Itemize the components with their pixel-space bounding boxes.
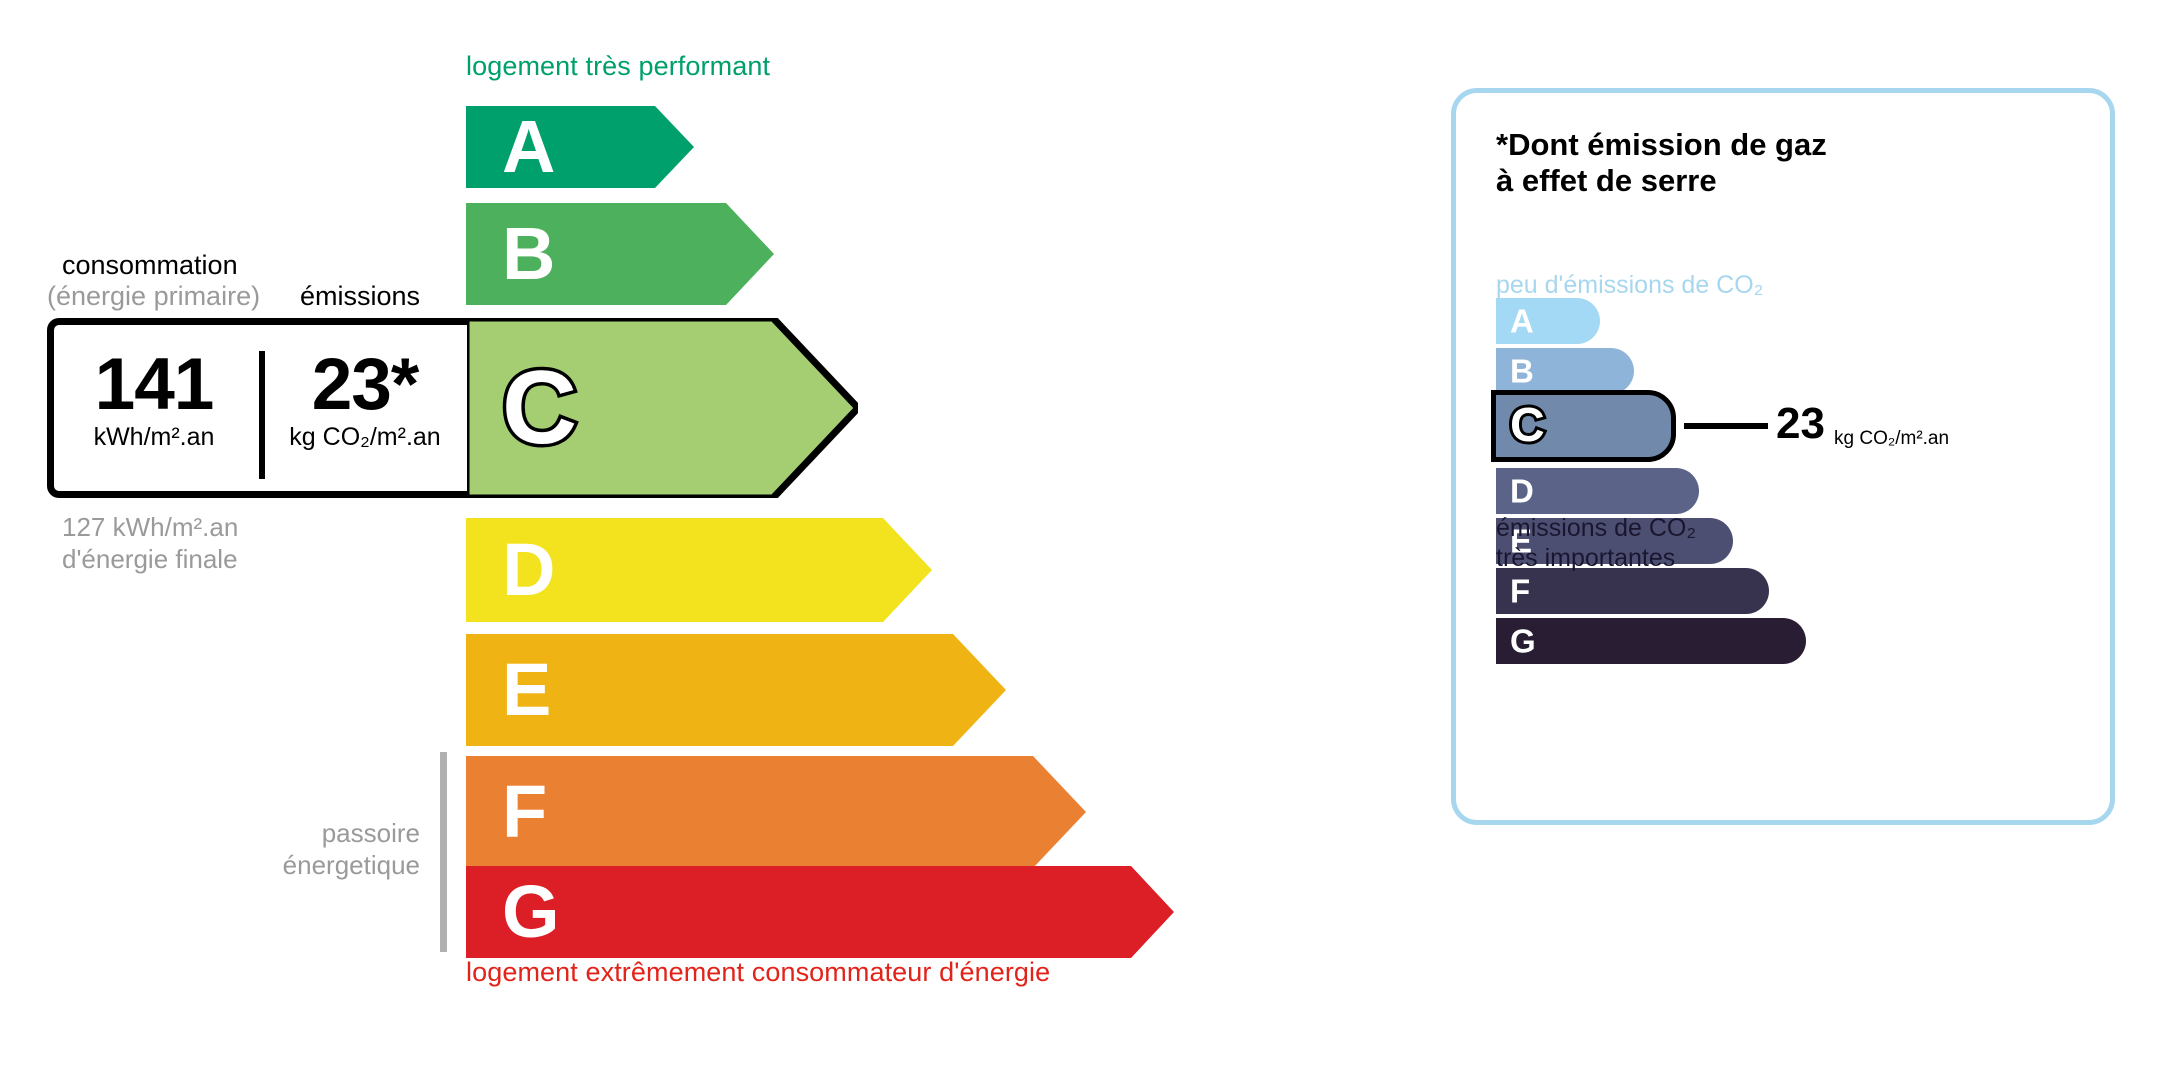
co2-bar-letter-a: A <box>1510 305 1534 338</box>
band-arrow-shape <box>466 866 1174 958</box>
co2-value: 23 <box>1776 402 1825 446</box>
final-energy-value: 127 kWh/m².an <box>62 512 238 544</box>
passoire-line2: énergetique <box>220 850 420 882</box>
chart-bottom-label: logement extrêmement consommateur d'éner… <box>466 957 1050 988</box>
band-arrow-shape <box>466 106 694 188</box>
band-letter-e: E <box>502 653 551 727</box>
energy-band-e: E <box>466 634 1006 746</box>
co2-leader-line <box>1684 423 1768 429</box>
co2-bottom-line2: très importantes <box>1496 543 1696 573</box>
band-letter-c: C <box>502 356 577 460</box>
band-letter-f: F <box>502 775 547 849</box>
co2-title-line1: *Dont émission de gaz <box>1496 127 1827 163</box>
value-box: 141 kWh/m².an 23* kg CO₂/m².an <box>47 318 467 498</box>
co2-bar-letter-d: D <box>1510 475 1534 508</box>
passoire-line1: passoire <box>220 818 420 850</box>
primary-energy-label: (énergie primaire) <box>47 281 260 311</box>
energy-band-a: A <box>466 106 694 188</box>
consumption-label: consommation <box>62 250 238 280</box>
co2-bar-c: C <box>1491 390 1676 462</box>
co2-panel: *Dont émission de gaz à effet de serre p… <box>1451 88 2115 825</box>
emissions-value: 23* <box>265 349 465 421</box>
energy-band-b: B <box>466 203 774 305</box>
co2-bar-letter-f: F <box>1510 575 1530 608</box>
co2-bottom-line1: émissions de CO₂ <box>1496 513 1696 543</box>
co2-bar-b: B <box>1496 348 1634 394</box>
emissions-unit: kg CO₂/m².an <box>265 425 465 450</box>
co2-bar-f: F <box>1496 568 1769 614</box>
consumption-value-cell: 141 kWh/m².an <box>54 349 254 450</box>
consumption-value: 141 <box>54 349 254 421</box>
co2-bar-letter-c: C <box>1510 402 1545 450</box>
co2-panel-title: *Dont émission de gaz à effet de serre <box>1496 127 1827 199</box>
co2-bar-g: G <box>1496 618 1806 664</box>
chart-top-label: logement très performant <box>466 51 770 82</box>
passoire-energetique-label: passoire énergetique <box>220 818 420 881</box>
final-energy-note: 127 kWh/m².an d'énergie finale <box>62 512 238 575</box>
emissions-label: émissions <box>300 281 420 311</box>
co2-title-line2: à effet de serre <box>1496 163 1827 199</box>
energy-band-c: C <box>466 318 858 498</box>
energy-band-d: D <box>466 518 932 622</box>
emissions-value-cell: 23* kg CO₂/m².an <box>265 349 465 450</box>
consumption-unit: kWh/m².an <box>54 425 254 450</box>
passoire-bracket <box>440 752 447 952</box>
band-letter-g: G <box>502 875 560 949</box>
co2-bar-letter-b: B <box>1510 355 1534 388</box>
band-arrow-shape <box>466 756 1086 868</box>
co2-high-emissions-note: émissions de CO₂ très importantes <box>1496 513 1696 573</box>
co2-unit: kg CO₂/m².an <box>1834 428 1949 450</box>
co2-bar-letter-g: G <box>1510 625 1536 658</box>
dpe-energy-chart: logement très performant ABCDEFG logemen… <box>0 0 1400 1079</box>
co2-low-emissions-note: peu d'émissions de CO₂ <box>1496 271 1763 300</box>
band-letter-d: D <box>502 533 555 607</box>
co2-bar-d: D <box>1496 468 1699 514</box>
band-letter-b: B <box>502 217 555 291</box>
co2-bar-a: A <box>1496 298 1600 344</box>
band-letter-a: A <box>502 110 555 184</box>
energy-band-g: G <box>466 866 1174 958</box>
final-energy-label: d'énergie finale <box>62 544 238 576</box>
energy-band-f: F <box>466 756 1086 868</box>
